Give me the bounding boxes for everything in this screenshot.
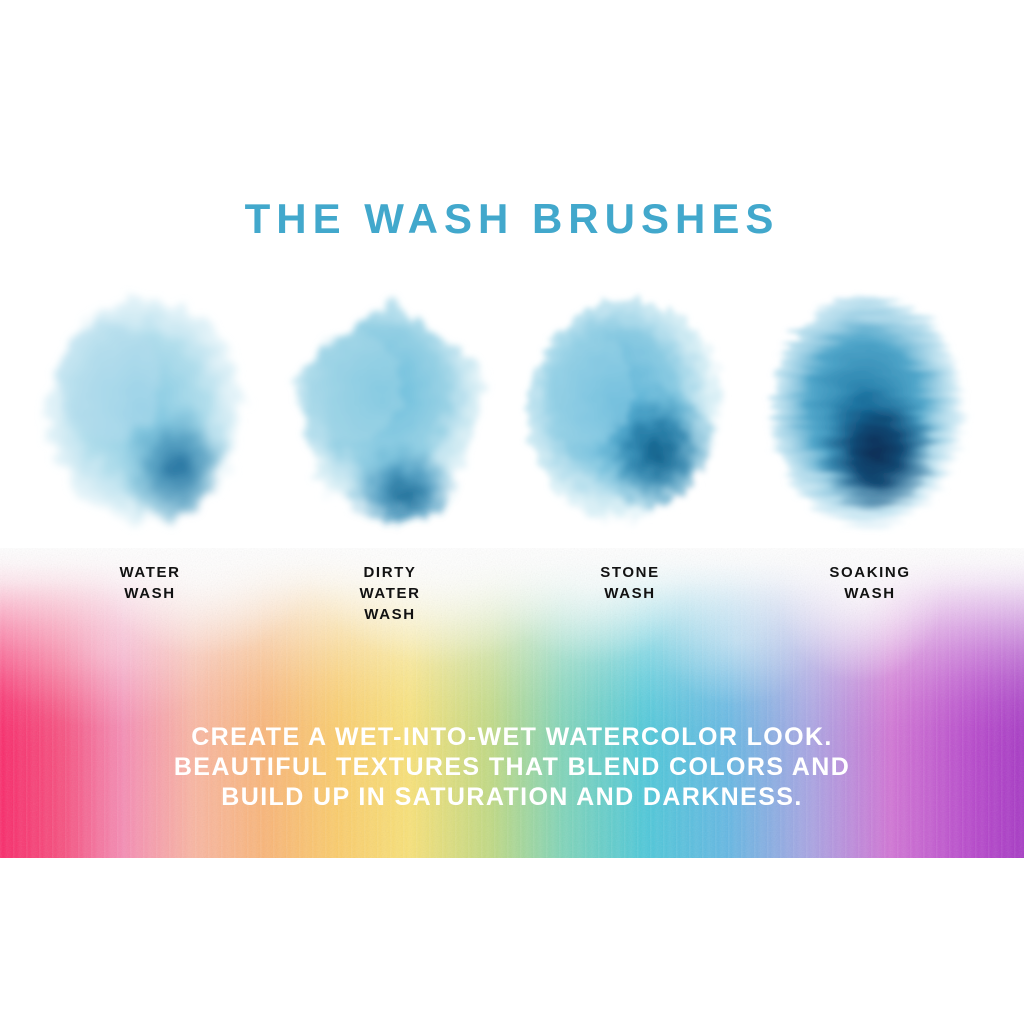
label-line: WATER [22, 562, 278, 583]
label-line: WASH [742, 583, 998, 604]
swatch-water-wash [22, 272, 278, 557]
label-line: WATER [262, 583, 518, 604]
label-line: DIRTY [262, 562, 518, 583]
label-line: WASH [502, 583, 758, 604]
swatch-stone-wash [502, 272, 758, 557]
watercolor-blob-icon [34, 284, 266, 546]
caption-text: CREATE A WET-INTO-WET WATERCOLOR LOOK. B… [0, 722, 1024, 812]
swatch-label-soaking-wash: SOAKING WASH [742, 562, 998, 604]
label-line: STONE [502, 562, 758, 583]
caption-line: BEAUTIFUL TEXTURES THAT BLEND COLORS AND [0, 752, 1024, 782]
swatch-label-dirty-water-wash: DIRTY WATER WASH [262, 562, 518, 625]
label-line: WASH [262, 604, 518, 625]
wash-brushes-poster: THE WASH BRUSHES [0, 0, 1024, 1024]
label-line: WASH [22, 583, 278, 604]
swatch-labels: WATER WASH DIRTY WATER WASH STONE WASH S… [0, 562, 1024, 652]
page-title: THE WASH BRUSHES [0, 198, 1024, 240]
swatch-soaking-wash [742, 272, 998, 557]
watercolor-blob-icon [274, 284, 506, 546]
swatch-dirty-water-wash [262, 272, 518, 557]
label-line: SOAKING [742, 562, 998, 583]
watercolor-blob-icon [754, 284, 986, 546]
caption-line: BUILD UP IN SATURATION AND DARKNESS. [0, 782, 1024, 812]
swatch-row [0, 272, 1024, 557]
caption-line: CREATE A WET-INTO-WET WATERCOLOR LOOK. [0, 722, 1024, 752]
swatch-label-stone-wash: STONE WASH [502, 562, 758, 604]
watercolor-blob-icon [514, 284, 746, 546]
swatch-label-water-wash: WATER WASH [22, 562, 278, 604]
